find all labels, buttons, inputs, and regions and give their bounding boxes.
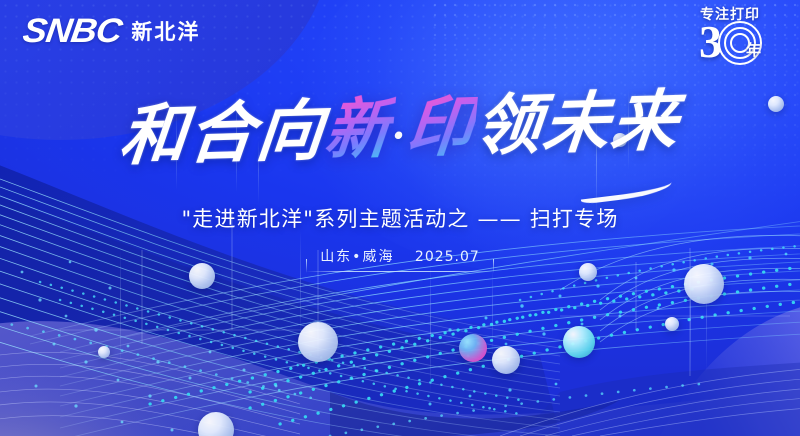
title-char-7: 未: [540, 87, 615, 162]
subtitle: "走进新北洋"系列主题活动之 —— 扫打专场: [0, 203, 800, 233]
title-char-3: 新: [322, 93, 397, 168]
main-title: 和合向新·印领未来: [117, 88, 683, 171]
badge-unit: 年: [746, 39, 761, 60]
event-location: 山东•威海: [320, 249, 394, 265]
title-char-6: 领: [472, 89, 547, 164]
event-meta-block: 山东•威海 2025.07: [0, 246, 800, 272]
main-title-block: 和合向新·印领未来: [0, 96, 800, 163]
sphere-3: [459, 334, 487, 362]
light-streak-5: [430, 262, 431, 394]
sphere-7: [492, 346, 520, 374]
logo-chinese-name: 新北洋: [131, 16, 200, 46]
title-char-2: 向: [253, 95, 328, 170]
title-char-1: 合: [185, 97, 260, 172]
sphere-4: [563, 326, 595, 358]
anniversary-badge: 专注打印 3 年: [678, 8, 782, 64]
title-char-5: 印: [403, 91, 478, 166]
event-meta: 山东•威海 2025.07: [306, 246, 494, 272]
sphere-10: [98, 346, 110, 358]
light-streak-10: [492, 268, 493, 354]
title-char-0: 和: [117, 99, 192, 174]
badge-number-row: 3 年: [678, 21, 782, 63]
event-date: 2025.07: [415, 249, 480, 265]
meta-tick-left: [306, 259, 307, 273]
meta-underline: [306, 271, 494, 272]
sphere-11: [665, 317, 679, 331]
brand-logo: SNBC 新北洋: [26, 14, 200, 48]
sphere-1: [298, 322, 338, 362]
meta-tick-right: [493, 259, 494, 273]
title-char-8: 来: [608, 85, 683, 160]
event-banner: SNBC 新北洋 专注打印 3 年 和合向新·印领未来 "走进新北洋"系列主题活…: [0, 0, 800, 436]
logo-wordmark: SNBC: [21, 14, 124, 48]
